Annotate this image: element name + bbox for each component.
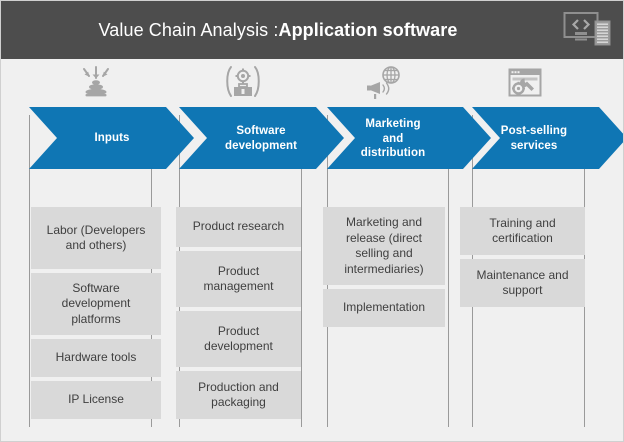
list-item[interactable]: Training and certification <box>460 207 585 255</box>
chevron-label-software-development: Software development <box>201 124 321 153</box>
page-title: Value Chain Analysis : Application softw… <box>1 1 555 59</box>
header-bar: Value Chain Analysis : Application softw… <box>1 1 624 59</box>
value-chain-diagram: Value Chain Analysis : Application softw… <box>0 0 624 442</box>
page-title-prefix: Value Chain Analysis : <box>99 20 279 41</box>
list-item[interactable]: Maintenance and support <box>460 259 585 307</box>
stage-column-marketing-distribution: Marketing and release (direct selling an… <box>323 207 445 331</box>
page-title-subject: Application software <box>278 20 457 41</box>
megaphone-globe-icon <box>364 63 408 101</box>
list-item[interactable]: Labor (Developers and others) <box>31 207 161 269</box>
stage-icon-row <box>1 63 624 103</box>
chevron-label-post-selling-services: Post-selling services <box>478 124 590 153</box>
monitor-code-server-icon <box>563 9 613 51</box>
inputs-funnel-arrows-icon <box>74 63 118 101</box>
list-item[interactable]: Marketing and release (direct selling an… <box>323 207 445 285</box>
browser-wrench-gear-icon <box>503 63 547 101</box>
list-item[interactable]: Implementation <box>323 289 445 327</box>
gear-toolbox-icon <box>221 63 265 101</box>
chevron-label-marketing-distribution: Marketing and distribution <box>334 117 452 161</box>
stage-column-software-development: Product research Product management Prod… <box>176 207 301 423</box>
list-item[interactable]: Product management <box>176 251 301 307</box>
list-item[interactable]: Software development platforms <box>31 273 161 335</box>
chevron-band: Inputs Software development Marketing an… <box>1 107 624 169</box>
list-item[interactable]: Production and packaging <box>176 371 301 419</box>
value-chain-body: Inputs Software development Marketing an… <box>1 59 624 442</box>
list-item[interactable]: Hardware tools <box>31 339 161 377</box>
list-item[interactable]: Product development <box>176 311 301 367</box>
list-item[interactable]: Product research <box>176 207 301 247</box>
chevron-label-inputs: Inputs <box>57 131 167 146</box>
list-item[interactable]: IP License <box>31 381 161 419</box>
stage-column-post-selling-services: Training and certification Maintenance a… <box>460 207 585 311</box>
stage-column-inputs: Labor (Developers and others) Software d… <box>31 207 161 423</box>
